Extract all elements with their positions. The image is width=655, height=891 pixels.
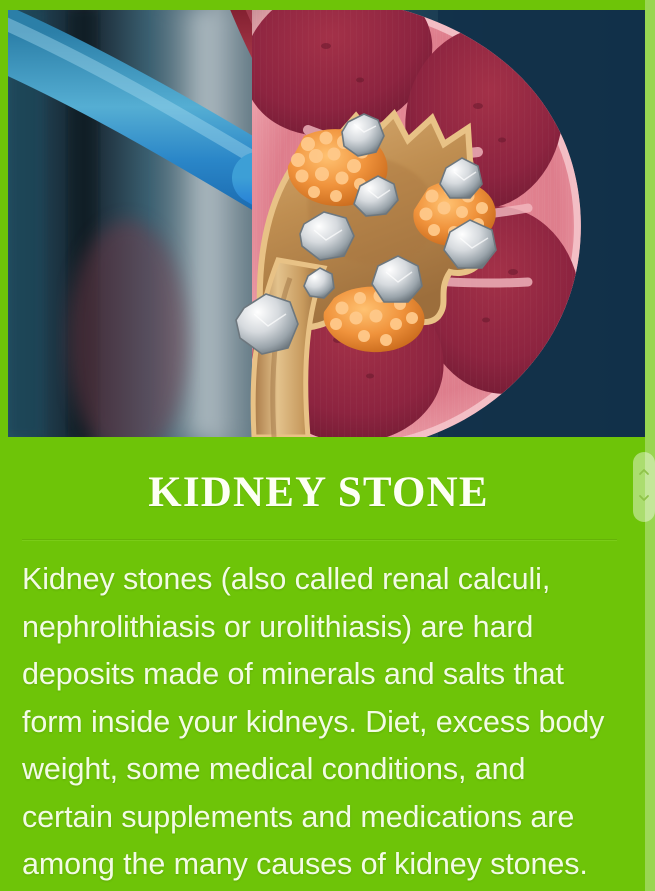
scrollbar-track[interactable] bbox=[645, 0, 655, 891]
scrollbar-thumb[interactable] bbox=[633, 452, 655, 522]
title-divider bbox=[22, 539, 617, 541]
article-paragraph: Kidney stones (also called renal calculi… bbox=[22, 556, 622, 889]
kidney-stone-illustration bbox=[8, 10, 645, 437]
chevron-up-icon[interactable] bbox=[638, 466, 650, 478]
article-screen: KIDNEY STONE Kidney stones (also called … bbox=[0, 0, 655, 891]
chevron-down-icon[interactable] bbox=[638, 492, 650, 504]
page-title: KIDNEY STONE bbox=[0, 468, 637, 517]
